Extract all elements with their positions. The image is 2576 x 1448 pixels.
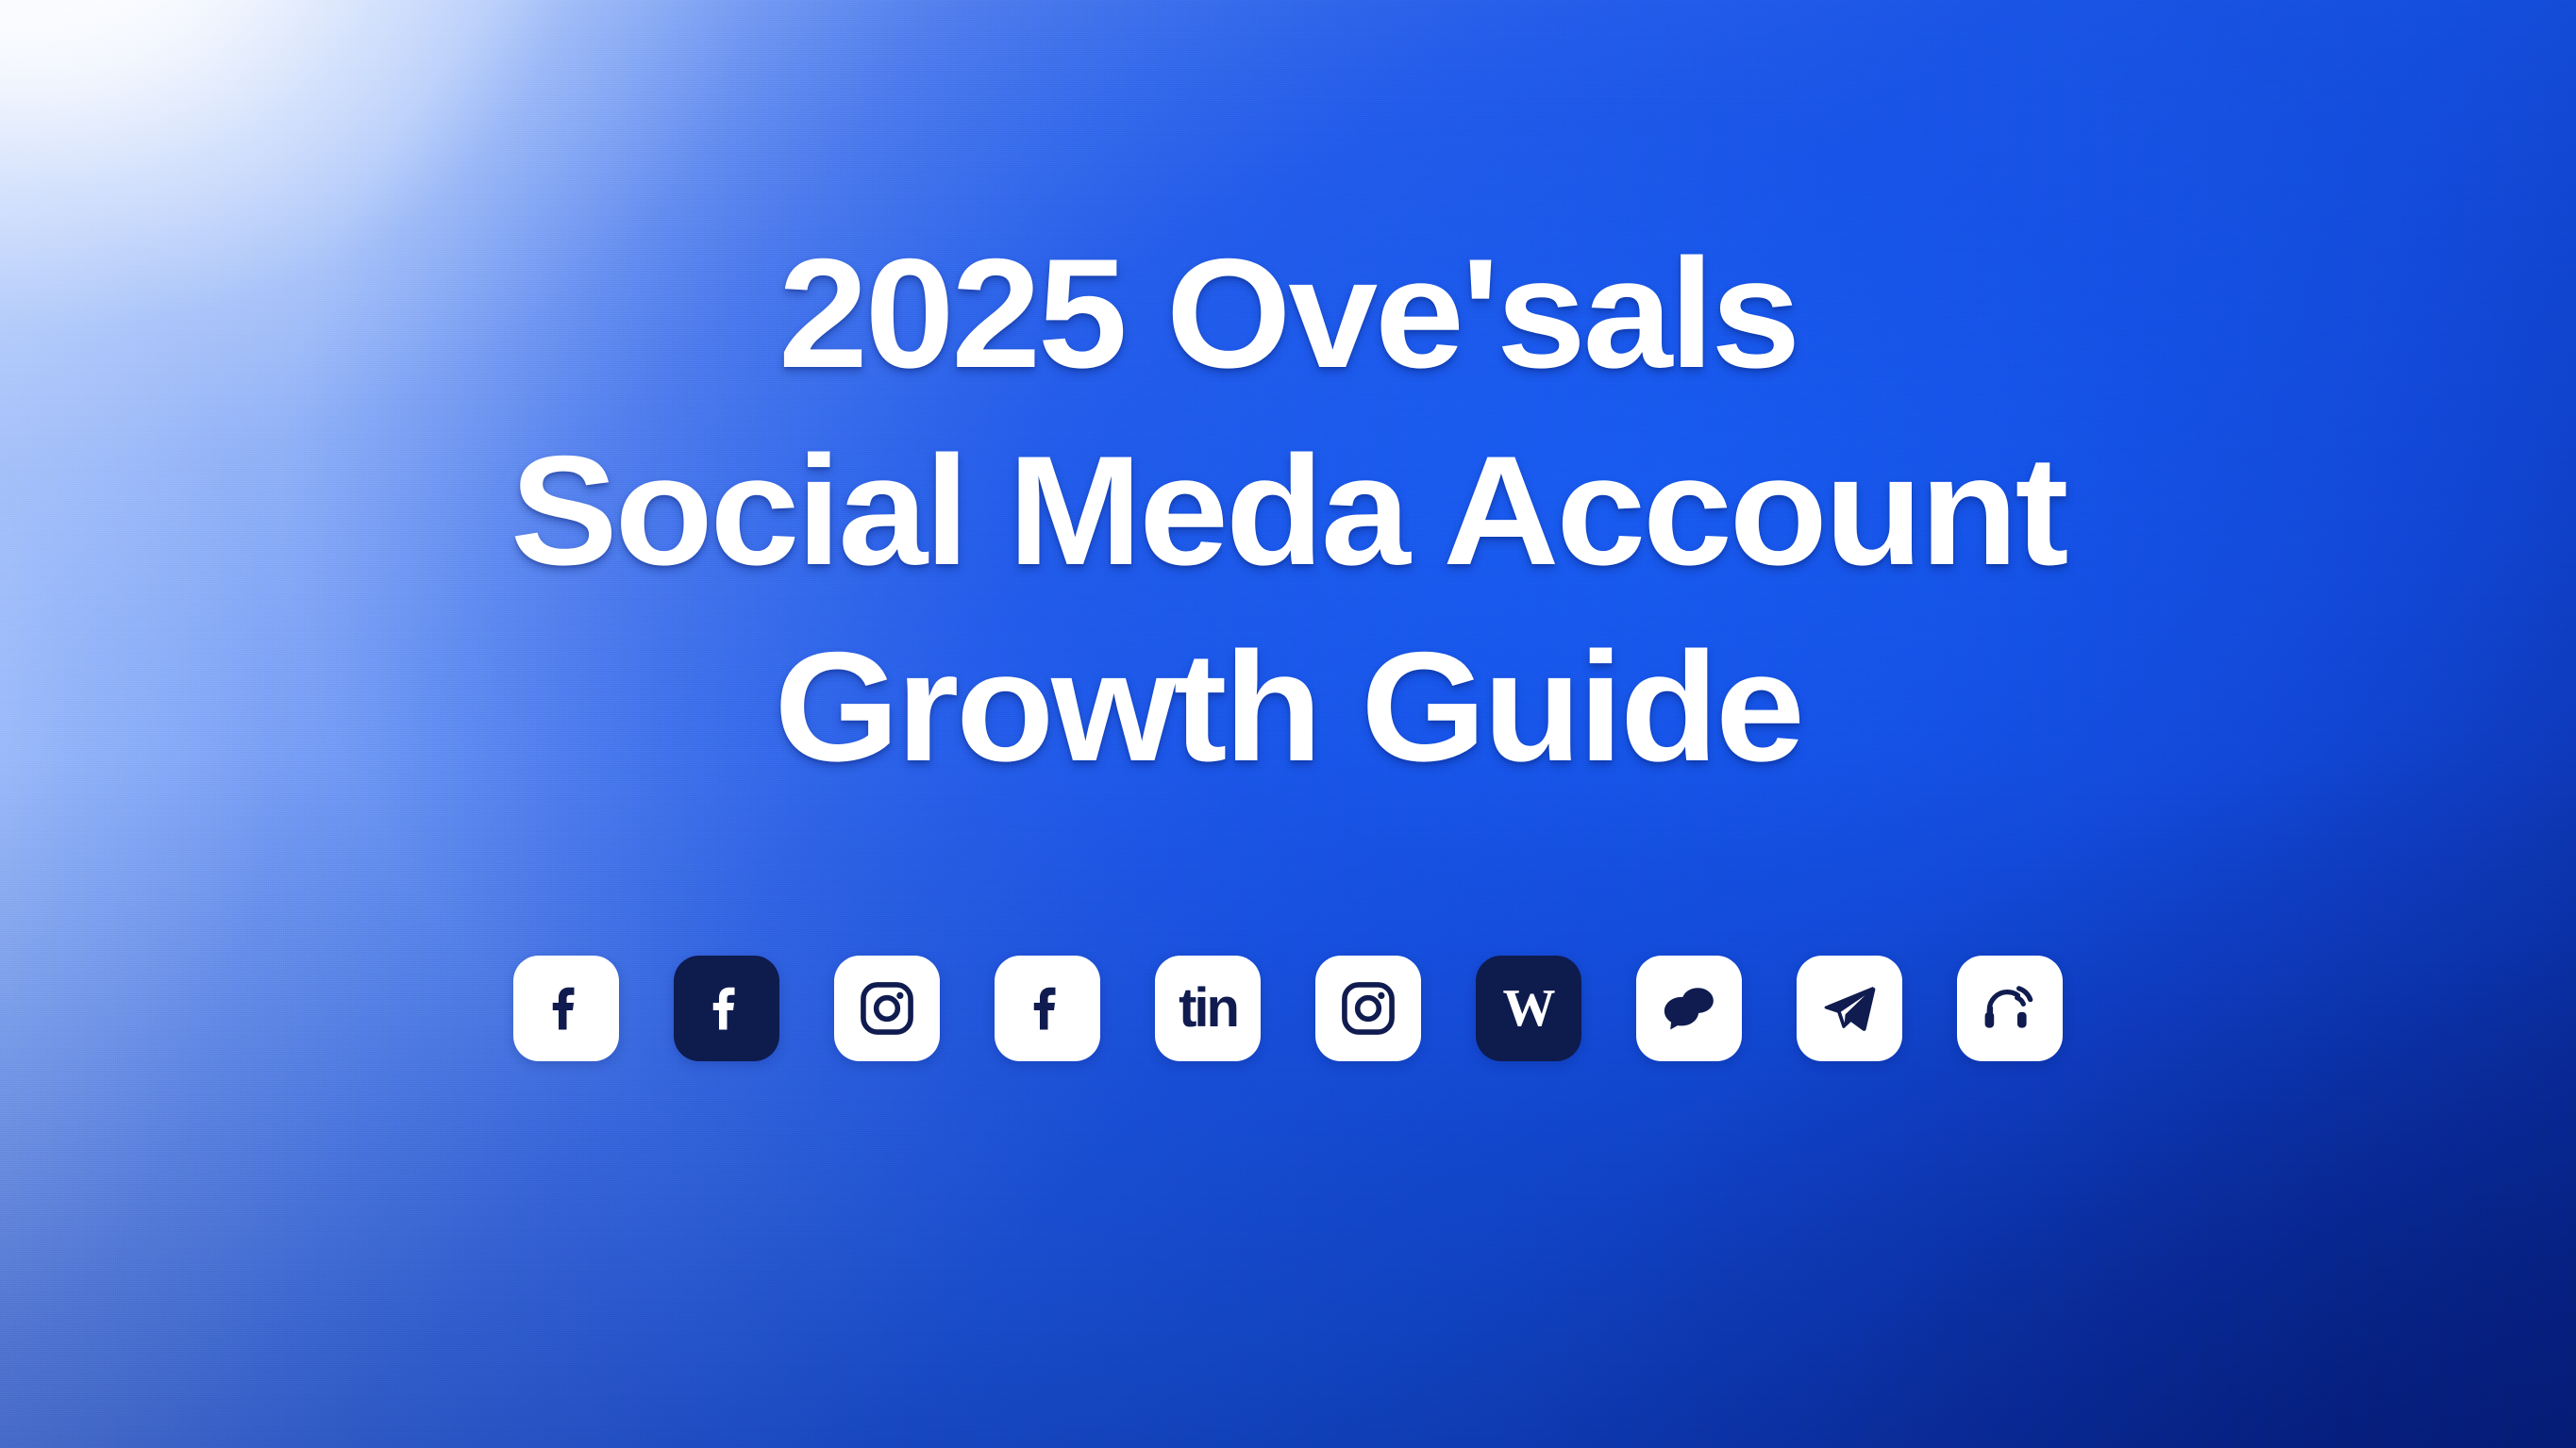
social-icon-tile-facebook-3[interactable] [995,956,1100,1061]
facebook-icon [538,980,594,1037]
title-line-3: Growth Guide [0,608,2576,806]
facebook-icon [698,980,755,1037]
poster-canvas: 2025 Ove'sals Social Meda Account Growth… [0,0,2576,1448]
title-line-1: 2025 Ove'sals [0,215,2576,412]
social-icon-row: tin W [0,956,2576,1061]
facebook-icon [1019,980,1076,1037]
chat-bubbles-icon [1658,977,1720,1040]
wordpress-icon: W [1503,982,1555,1035]
instagram-icon [857,978,917,1039]
social-icon-tile-wordpress[interactable]: W [1476,956,1581,1061]
social-icon-tile-instagram-1[interactable] [834,956,940,1061]
social-icon-tile-facebook-1[interactable] [513,956,619,1061]
instagram-icon [1338,978,1398,1039]
social-icon-tile-linkedin[interactable]: tin [1155,956,1261,1061]
linkedin-icon: tin [1179,981,1237,1036]
podcast-icon [1979,977,2041,1040]
social-icon-tile-telegram[interactable] [1797,956,1902,1061]
social-icon-tile-facebook-2[interactable] [674,956,779,1061]
social-icon-tile-instagram-2[interactable] [1315,956,1421,1061]
page-title: 2025 Ove'sals Social Meda Account Growth… [0,215,2576,806]
social-icon-tile-podcast[interactable] [1957,956,2063,1061]
title-line-2: Social Meda Account [0,412,2576,609]
telegram-icon [1818,977,1881,1040]
social-icon-tile-messages[interactable] [1636,956,1742,1061]
